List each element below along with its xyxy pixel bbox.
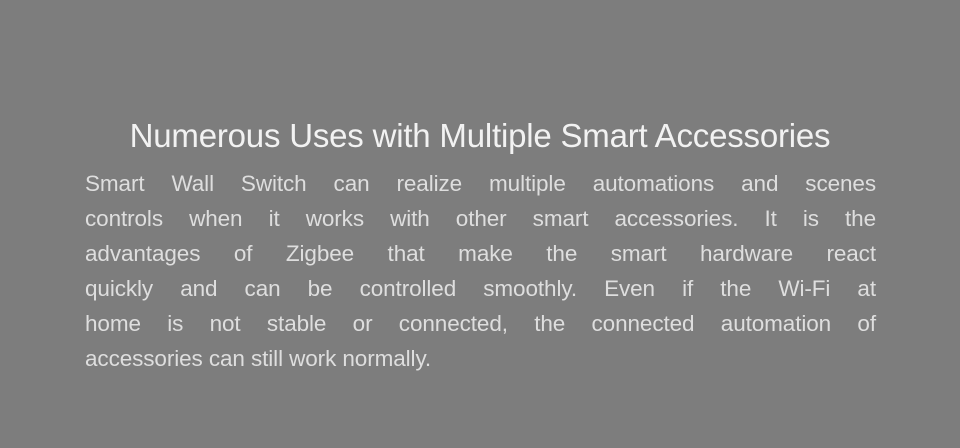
paragraph-line: quickly and can be controlled smoothly. … xyxy=(85,271,876,306)
paragraph-line: Smart Wall Switch can realize multiple a… xyxy=(85,166,876,201)
paragraph-line: accessories can still work normally. xyxy=(85,341,876,376)
page-title: Numerous Uses with Multiple Smart Access… xyxy=(0,116,960,156)
description-paragraph: Smart Wall Switch can realize multiple a… xyxy=(85,166,876,376)
paragraph-line: controls when it works with other smart … xyxy=(85,201,876,236)
paragraph-line: advantages of Zigbee that make the smart… xyxy=(85,236,876,271)
promo-banner: Numerous Uses with Multiple Smart Access… xyxy=(0,0,960,448)
paragraph-line: home is not stable or connected, the con… xyxy=(85,306,876,341)
